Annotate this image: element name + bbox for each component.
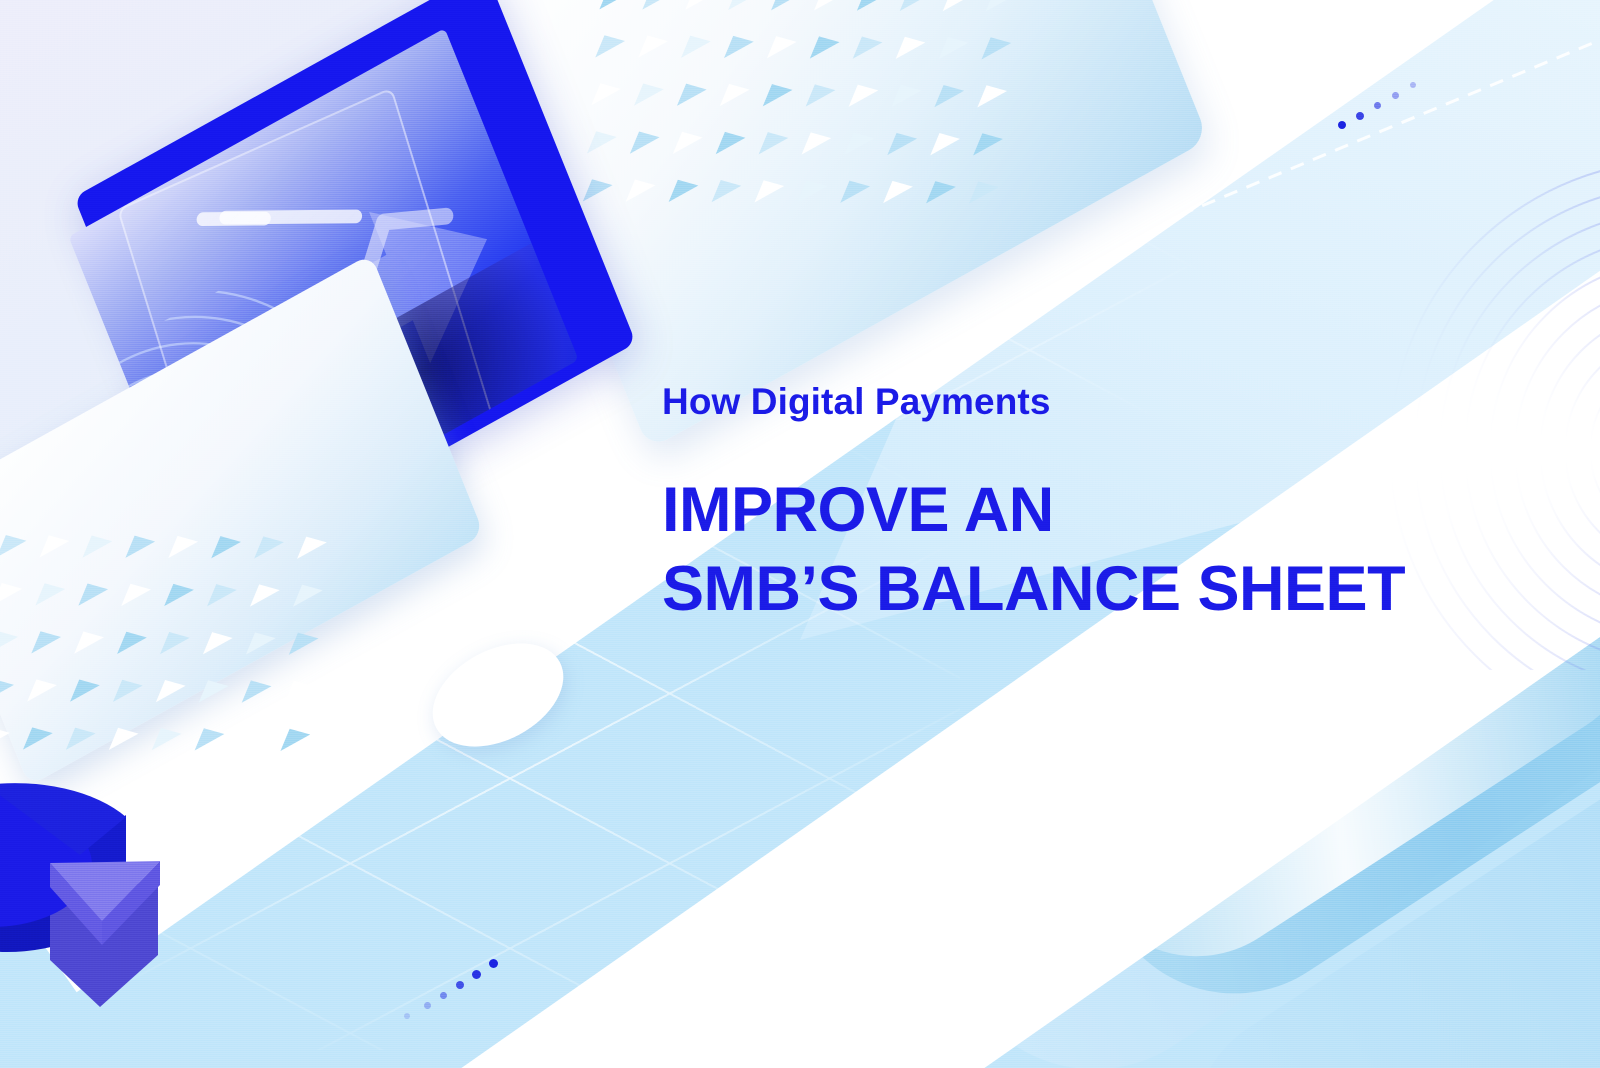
keyboard-key <box>976 29 1011 59</box>
exploded-3d-pie-chart <box>0 745 260 1045</box>
keyboard-key <box>628 75 663 105</box>
keyboard-key <box>111 623 146 653</box>
keyboard-key <box>244 576 279 606</box>
keyboard-key <box>753 124 788 154</box>
keyboard-key <box>77 527 112 557</box>
keyboard-key <box>851 0 886 11</box>
keyboard-key <box>757 76 792 106</box>
keyboard-key <box>30 575 65 605</box>
keyboard-key <box>0 623 18 653</box>
hero-text-block: How Digital Payments IMPROVE AN SMB’S BA… <box>662 382 1482 629</box>
keyboard-key <box>749 172 784 202</box>
keyboard-key <box>201 576 236 606</box>
keyboard-key <box>765 0 800 10</box>
keyboard-key <box>839 124 874 154</box>
keyboard-key <box>804 28 839 58</box>
keyboard-key <box>890 29 925 59</box>
keyboard-key <box>0 575 22 605</box>
keyboard-key <box>722 0 757 10</box>
keyboard-key <box>291 528 326 558</box>
keyboard-key <box>21 671 56 701</box>
keyboard-key <box>64 671 99 701</box>
keyboard-key <box>0 527 26 557</box>
keyboard-key <box>886 77 921 107</box>
keyboard-key <box>159 576 194 606</box>
keyboard-key <box>26 623 61 653</box>
keyboard-key <box>667 123 702 153</box>
keyboard-key <box>163 528 198 558</box>
keyboard-key <box>933 29 968 59</box>
headline-line-2: SMB’S BALANCE SHEET <box>662 550 1482 629</box>
keyboard-key <box>894 0 929 11</box>
keyboard-key <box>714 76 749 106</box>
keyboard-key <box>882 125 917 155</box>
keyboard-key <box>929 77 964 107</box>
keyboard-key <box>792 172 827 202</box>
keyboard-key <box>675 27 710 57</box>
keyboard-key <box>980 0 1015 11</box>
keyboard-key <box>633 27 668 57</box>
keyboard-key <box>761 28 796 58</box>
keyboard-key <box>710 124 745 154</box>
hero-illustration-canvas: How Digital Payments IMPROVE AN SMB’S BA… <box>0 0 1600 1068</box>
keyboard-key <box>154 624 189 654</box>
keyboard-key <box>796 124 831 154</box>
keyboard-key <box>847 28 882 58</box>
keyboard-key <box>680 0 715 10</box>
keyboard-key <box>671 75 706 105</box>
keyboard-key <box>206 528 241 558</box>
headline-line-1: IMPROVE AN <box>662 475 1054 545</box>
keyboard-key <box>120 527 155 557</box>
keyboard-key <box>808 0 843 11</box>
keyboard-key <box>594 0 629 9</box>
keyboard-key <box>69 623 104 653</box>
keyboard-key <box>718 28 753 58</box>
keyboard-key <box>73 575 108 605</box>
keyboard-key <box>116 575 151 605</box>
keyboard-key <box>248 528 283 558</box>
keyboard-key <box>706 172 741 202</box>
keyboard-key <box>937 0 972 11</box>
keyboard-key <box>800 76 835 106</box>
eyebrow-text: How Digital Payments <box>662 382 1482 423</box>
page-title: IMPROVE AN SMB’S BALANCE SHEET <box>662 471 1482 630</box>
keyboard-key <box>34 527 69 557</box>
dashed-guide-line <box>1180 30 1600 230</box>
keyboard-key <box>663 172 698 202</box>
keyboard-key <box>843 76 878 106</box>
keyboard-key <box>637 0 672 10</box>
